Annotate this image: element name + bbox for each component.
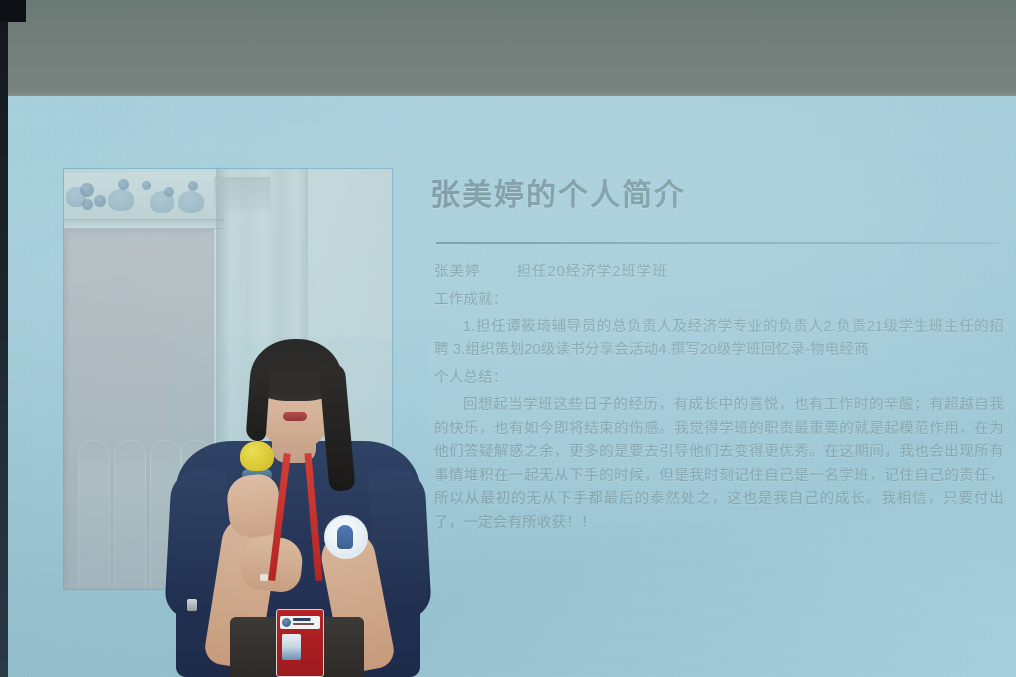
wall-above-screen: [0, 0, 1016, 96]
slide-title: 张美婷的个人简介: [430, 170, 1010, 214]
badge-clip: [187, 599, 197, 611]
title-divider-rule: [436, 242, 998, 244]
name-row: 张美婷 担任20经济学2班学班: [434, 260, 1004, 284]
badge-subtitle-line: [293, 623, 318, 625]
presenter-role: 担任20经济学2班学班: [517, 264, 668, 280]
presenter: [168, 337, 428, 677]
projected-slide: 张美婷的个人简介 张美婷 担任20经济学2班学班 工作成就： 1.担任谭筱琦辅导…: [8, 96, 1016, 677]
lips: [283, 412, 307, 421]
badge-portrait: [282, 634, 301, 660]
id-badge: [276, 609, 324, 677]
achievements-heading: 工作成就：: [434, 288, 1004, 312]
summary-paragraph: 回想起当学班这些日子的经历，有成长中的喜悦，也有工作时的辛酸；有超越自我的快乐，…: [434, 394, 1004, 535]
presenter-name: 张美婷: [434, 264, 481, 280]
top-left-corner-shadow: [0, 0, 26, 22]
left-dark-edge: [0, 0, 8, 677]
slide-body: 张美婷 担任20经济学2班学班 工作成就： 1.担任谭筱琦辅导员的总负责人及经济…: [434, 260, 1004, 539]
summary-heading: 个人总结：: [434, 366, 1004, 390]
projected-slide-photo: 张美婷的个人简介 张美婷 担任20经济学2班学班 工作成就： 1.担任谭筱琦辅导…: [0, 0, 1016, 677]
badge-logo-icon: [282, 618, 291, 627]
badge-title-line: [293, 618, 318, 621]
badge-header: [280, 616, 320, 629]
achievements-paragraph: 1.担任谭筱琦辅导员的总负责人及经济学专业的负责人2.负责21级学生班主任的招聘…: [434, 316, 1004, 362]
microphone-windscreen: [240, 441, 274, 471]
chest-emblem: [324, 515, 368, 559]
finger-ring: [260, 574, 268, 581]
